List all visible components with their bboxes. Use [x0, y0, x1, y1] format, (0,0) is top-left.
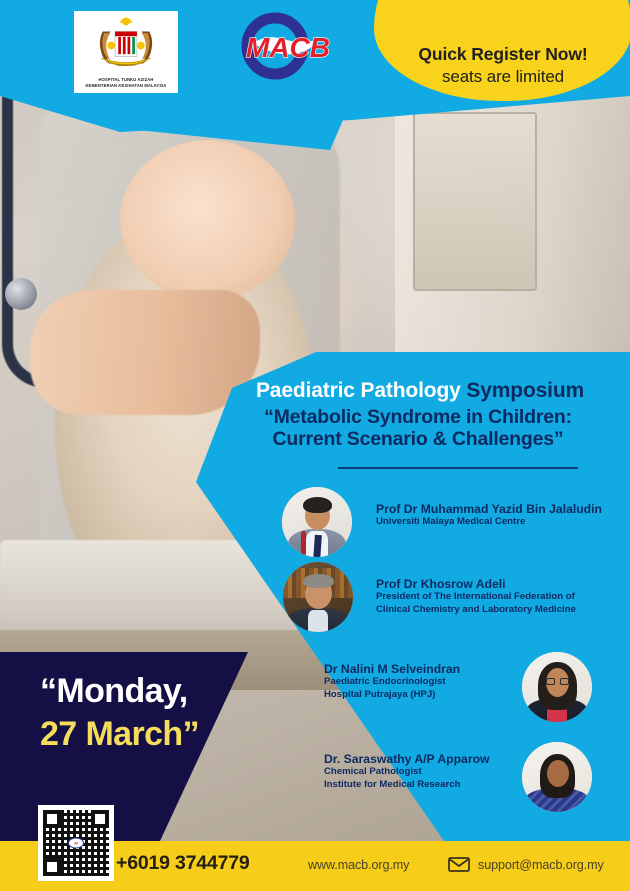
content-panel-inner: Paediatric Pathology Symposium “Metaboli… [196, 352, 630, 841]
speaker-info-2: Prof Dr Khosrow Adeli President of The I… [376, 577, 576, 616]
contact-website[interactable]: www.macb.org.my [308, 858, 409, 872]
speaker-affiliation-3-line1: Paediatric Endocrinologist [324, 676, 460, 688]
macb-logo-text: MACB [246, 32, 330, 63]
malaysia-crest-icon: BERSEKUTU [87, 16, 165, 72]
speaker-photo-1 [282, 487, 352, 557]
speaker-photo-2 [283, 562, 353, 632]
speaker-affiliation-3-line2: Hospital Putrajaya (HPJ) [324, 689, 460, 701]
qr-eye-top-right [91, 810, 109, 828]
register-headline: Quick Register Now! [418, 44, 587, 65]
stethoscope-head-icon [5, 278, 37, 310]
speaker-photo-4 [522, 742, 592, 812]
page-subtitle: “Metabolic Syndrome in Children: Current… [212, 407, 624, 451]
event-date: 27 March” [40, 715, 199, 754]
speaker-affiliation-1-line1: Universiti Malaya Medical Centre [376, 516, 602, 528]
speaker-info-4: Dr. Saraswathy A/P Apparow Chemical Path… [324, 752, 490, 791]
subtitle-line-1: “Metabolic Syndrome in Children: [212, 407, 624, 429]
speaker-affiliation-4-line1: Chemical Pathologist [324, 766, 490, 778]
hospital-tunku-azizah-logo: BERSEKUTU HOSPITAL TUNKU AZIZAH KEMENTER… [74, 11, 178, 93]
speaker-photo-3 [522, 652, 592, 722]
page-title: Paediatric Pathology Symposium [220, 380, 620, 403]
svg-text:BERSEKUTU: BERSEKUTU [116, 63, 135, 67]
register-subline: seats are limited [442, 67, 564, 87]
speaker-affiliation-2-line1: President of The International Federatio… [376, 591, 576, 603]
bg-baby-head [120, 140, 295, 300]
title-main: Paediatric Pathology [256, 379, 466, 402]
speaker-name-4: Dr. Saraswathy A/P Apparow [324, 752, 490, 766]
speaker-info-1: Prof Dr Muhammad Yazid Bin Jalaludin Uni… [376, 502, 602, 529]
speaker-affiliation-2-line2: Clinical Chemistry and Laboratory Medici… [376, 604, 576, 616]
contact-phone[interactable]: +6019 3744779 [116, 852, 250, 875]
qr-center-logo: M [68, 838, 84, 849]
speaker-name-1: Prof Dr Muhammad Yazid Bin Jalaludin [376, 502, 602, 516]
event-day: “Monday, [40, 672, 188, 711]
qr-code[interactable]: M [38, 805, 114, 881]
speaker-affiliation-4-line2: Institute for Medical Research [324, 779, 490, 791]
envelope-icon [448, 857, 470, 872]
title-accent: Symposium [466, 379, 584, 402]
qr-code-pattern: M [43, 810, 109, 876]
speaker-info-3: Dr Nalini M Selveindran Paediatric Endoc… [324, 662, 460, 701]
hospital-name-line2: KEMENTERIAN KESIHATAN MALAYSIA [85, 83, 166, 89]
title-divider [338, 467, 578, 469]
contact-email[interactable]: support@macb.org.my [478, 858, 604, 872]
subtitle-line-2: Current Scenario & Challenges” [212, 429, 624, 451]
macb-logo: MACB [229, 12, 347, 80]
qr-eye-bottom-left [43, 858, 61, 876]
qr-eye-top-left [43, 810, 61, 828]
speaker-name-2: Prof Dr Khosrow Adeli [376, 577, 576, 591]
speaker-name-3: Dr Nalini M Selveindran [324, 662, 460, 676]
event-poster: BERSEKUTU HOSPITAL TUNKU AZIZAH KEMENTER… [0, 0, 630, 891]
